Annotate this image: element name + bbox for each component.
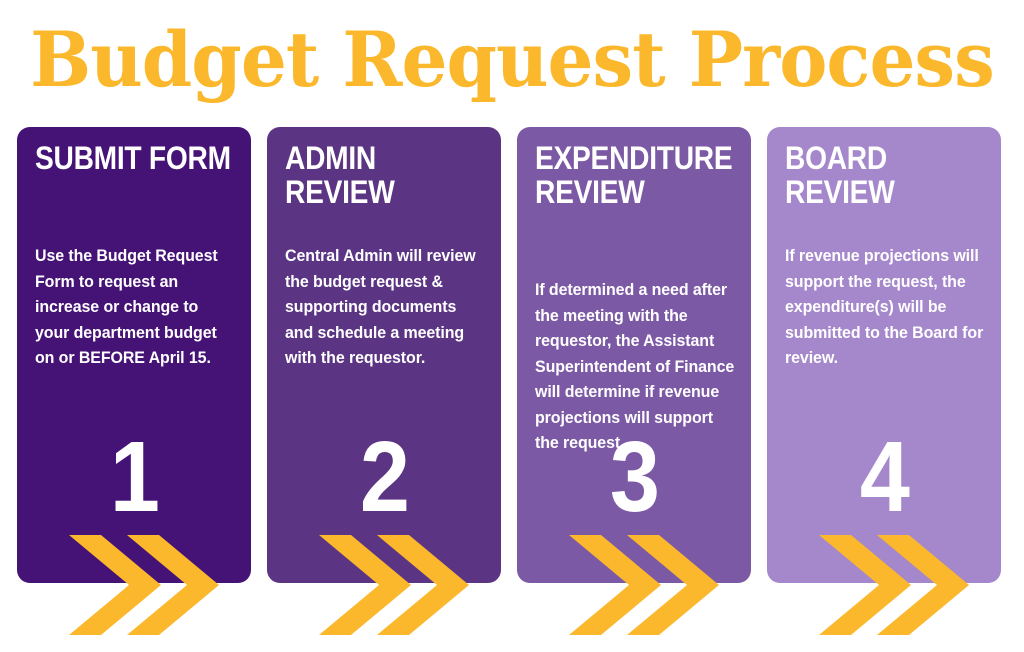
- double-chevron-right-icon: [569, 535, 749, 635]
- double-chevron-right-icon: [319, 535, 499, 635]
- step-number: 4: [779, 427, 990, 527]
- process-step-card-2: ADMIN REVIEW Central Admin will review t…: [267, 127, 501, 583]
- step-heading: SUBMIT FORM: [35, 141, 232, 175]
- step-number: 1: [29, 427, 240, 527]
- process-step-card-4: BOARD REVIEW If revenue projections will…: [767, 127, 1001, 583]
- infographic-canvas: Budget Request Process SUBMIT FORM Use t…: [0, 0, 1024, 652]
- process-steps-row: SUBMIT FORM Use the Budget Request Form …: [17, 127, 1007, 583]
- step-number: 2: [279, 427, 490, 527]
- step-number: 3: [529, 427, 740, 527]
- double-chevron-right-icon: [819, 535, 999, 635]
- step-heading: ADMIN REVIEW: [285, 141, 482, 209]
- process-step-card-3: EXPENDITURE REVIEW If determined a need …: [517, 127, 751, 583]
- step-heading: EXPENDITURE REVIEW: [535, 141, 732, 209]
- step-description: Use the Budget Request Form to request a…: [35, 243, 234, 371]
- step-description: Central Admin will review the budget req…: [285, 243, 484, 371]
- page-title: Budget Request Process: [26, 14, 999, 106]
- double-chevron-right-icon: [69, 535, 249, 635]
- process-step-card-1: SUBMIT FORM Use the Budget Request Form …: [17, 127, 251, 583]
- step-description: If revenue projections will support the …: [785, 243, 984, 371]
- step-heading: BOARD REVIEW: [785, 141, 982, 209]
